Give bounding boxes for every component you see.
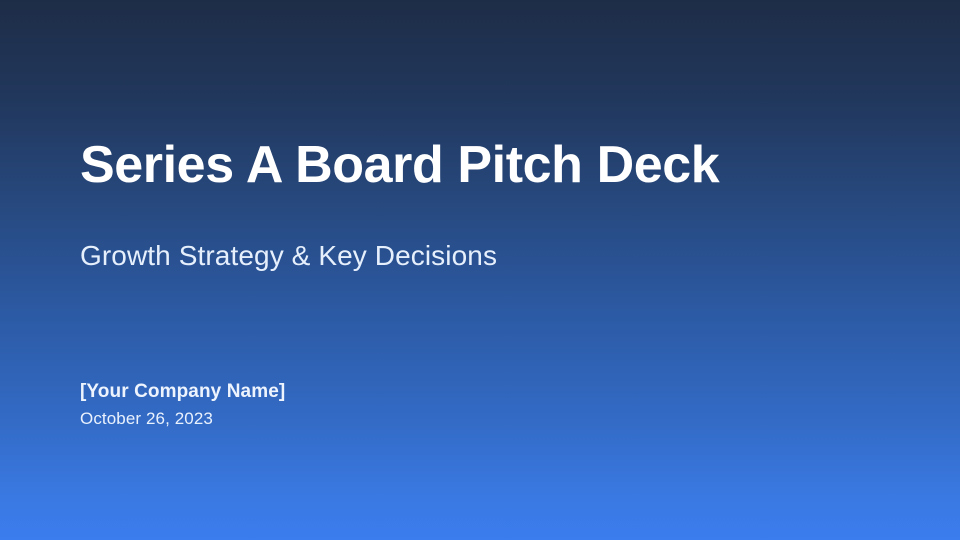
presentation-date: October 26, 2023 <box>80 407 285 430</box>
slide-footer: [Your Company Name] October 26, 2023 <box>80 379 285 430</box>
title-slide: Series A Board Pitch Deck Growth Strateg… <box>0 0 960 540</box>
slide-subtitle: Growth Strategy & Key Decisions <box>80 238 497 274</box>
company-name: [Your Company Name] <box>80 379 285 404</box>
page-title: Series A Board Pitch Deck <box>80 136 719 194</box>
slide-content: Series A Board Pitch Deck Growth Strateg… <box>80 0 880 540</box>
